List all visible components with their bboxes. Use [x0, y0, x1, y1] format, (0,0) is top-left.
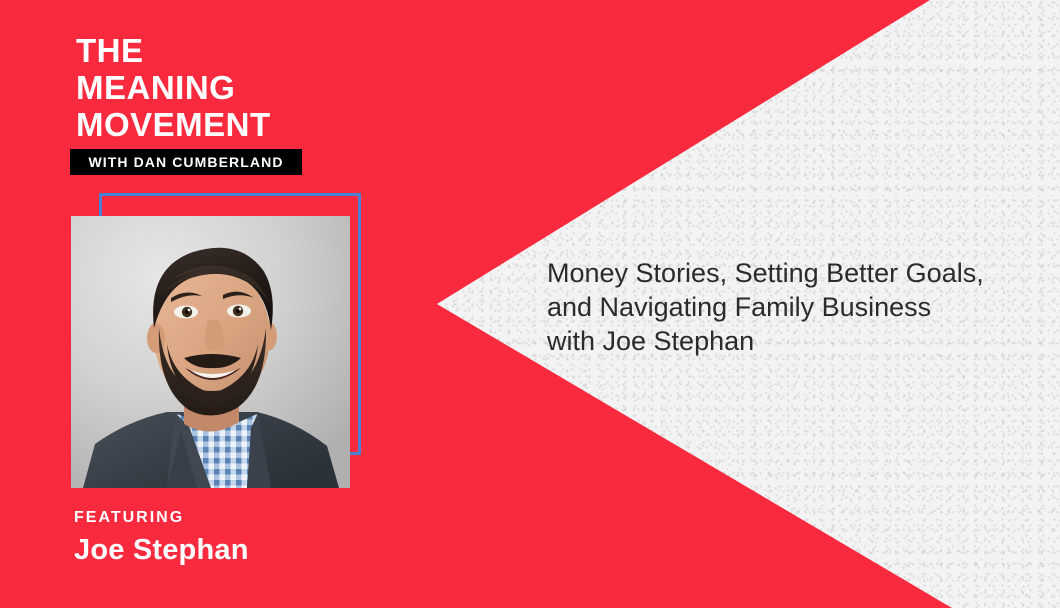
podcast-episode-cover: THE MEANING MOVEMENT WITH DAN CUMBERLAND	[0, 0, 1060, 608]
host-tagline-bar: WITH DAN CUMBERLAND	[70, 149, 302, 175]
featuring-label: FEATURING	[74, 508, 494, 528]
episode-title: Money Stories, Setting Better Goals, and…	[547, 256, 1027, 358]
episode-title-line-1: Money Stories, Setting Better Goals,	[547, 256, 1027, 290]
featuring-block: FEATURING Joe Stephan	[74, 508, 494, 568]
guest-portrait-illustration	[71, 216, 350, 488]
episode-title-line-2: and Navigating Family Business	[547, 290, 1027, 324]
logo-line-movement: MOVEMENT	[76, 106, 406, 143]
guest-name: Joe Stephan	[74, 532, 494, 568]
host-tagline-text: WITH DAN CUMBERLAND	[88, 154, 283, 170]
brand-logo: THE MEANING MOVEMENT	[76, 32, 406, 143]
logo-line-the: THE	[76, 32, 406, 69]
guest-photo	[71, 216, 350, 488]
episode-title-line-3: with Joe Stephan	[547, 324, 1027, 358]
logo-line-meaning: MEANING	[76, 69, 406, 106]
